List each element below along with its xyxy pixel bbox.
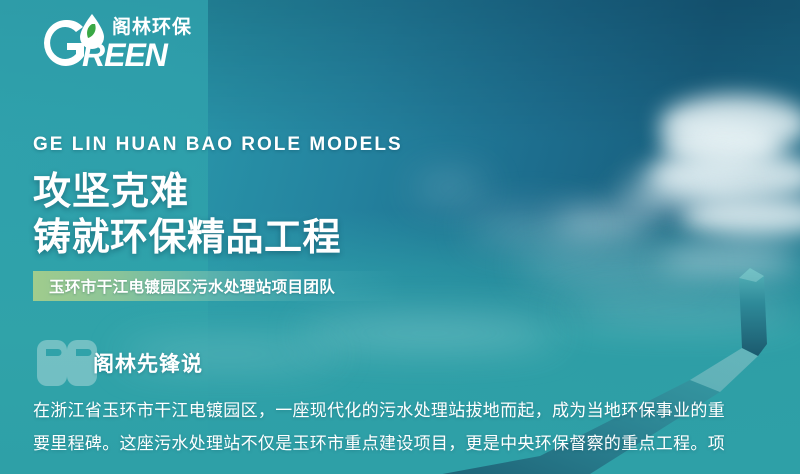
brand-logo: 阁林环保 REEN: [26, 8, 216, 74]
logo-green-wordmark: REEN: [82, 37, 169, 73]
quote-title: 阁林先锋说: [93, 348, 203, 378]
body-copy: 在浙江省玉环市干江电镀园区，一座现代化的污水处理站拔地而起，成为当地环保事业的重…: [33, 394, 800, 460]
quote-block: 阁林先锋说 在浙江省玉环市干江电镀园区，一座现代化的污水处理站拔地而起，成为当地…: [33, 340, 793, 460]
quote-header: 阁林先锋说: [33, 340, 793, 392]
poster-canvas: 阁林环保 REEN GE LIN HUAN BAO ROLE MODELS 攻坚…: [0, 0, 800, 474]
quotation-mark-icon: [35, 340, 97, 386]
letter-g-icon: [44, 20, 84, 66]
subtitle-text: 玉环市干江电镀园区污水处理站项目团队: [33, 275, 335, 297]
headline-block: GE LIN HUAN BAO ROLE MODELS 攻坚克难 铸就环保精品工…: [33, 134, 453, 301]
logo-chinese-text: 阁林环保: [112, 15, 192, 38]
title-line-2: 铸就环保精品工程: [33, 215, 453, 261]
logo-artwork: 阁林环保 REEN: [26, 8, 216, 74]
eyebrow-text: GE LIN HUAN BAO ROLE MODELS: [33, 134, 453, 157]
title-line-1: 攻坚克难: [33, 169, 453, 215]
body-line-2: 要里程碑。这座污水处理站不仅是玉环市重点建设项目，更是中央环保督察的重点工程。项: [33, 427, 800, 460]
page-title: 攻坚克难 铸就环保精品工程: [33, 169, 453, 262]
body-line-1: 在浙江省玉环市干江电镀园区，一座现代化的污水处理站拔地而起，成为当地环保事业的重: [33, 394, 800, 427]
subtitle-banner: 玉环市干江电镀园区污水处理站项目团队: [33, 271, 405, 301]
